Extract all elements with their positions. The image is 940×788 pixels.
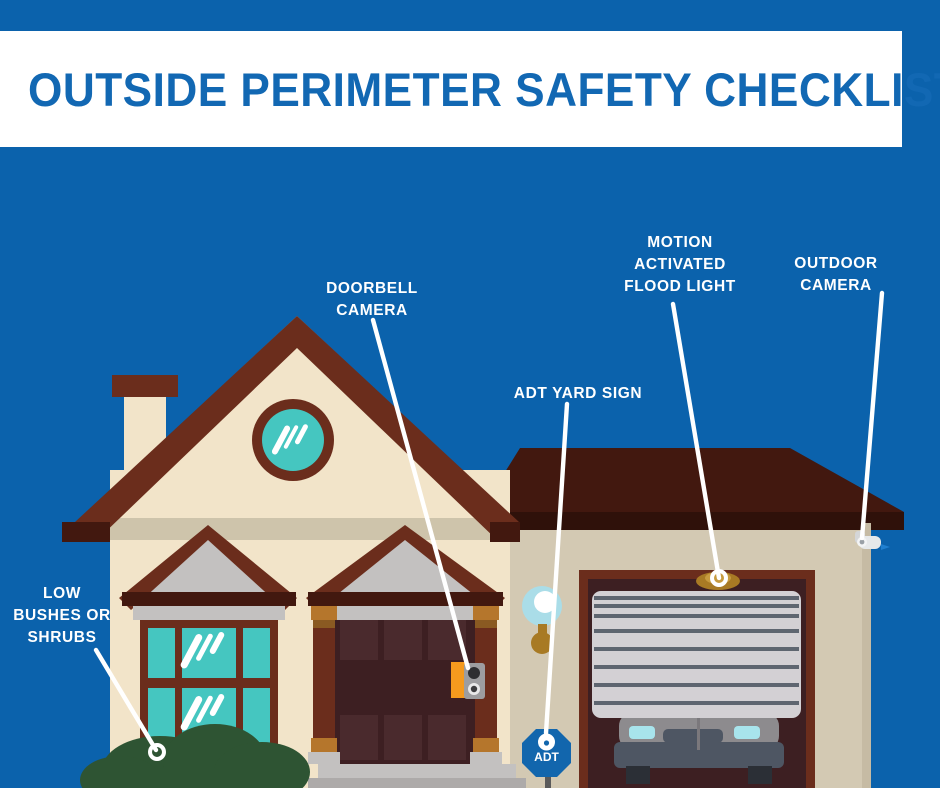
column-neck-right	[475, 620, 497, 628]
doorbell-camera-button	[471, 686, 477, 692]
bay-window-pane	[148, 688, 175, 744]
door-panel	[384, 715, 422, 760]
bay-window-pane	[148, 628, 175, 678]
garage-wall-shadow	[862, 523, 871, 788]
callout-label-doorbell-camera: DOORBELL CAMERA	[272, 278, 472, 322]
chimney-cap	[112, 375, 178, 397]
garage-door-slat	[594, 596, 799, 600]
page-title: OUTSIDE PERIMETER SAFETY CHECKLIST	[28, 66, 940, 113]
garage-door-slat	[594, 647, 799, 651]
garage-door-slat	[594, 683, 799, 687]
callout-label-adt-yard-sign: ADT YARD SIGN	[466, 383, 690, 405]
eave-right	[490, 522, 520, 542]
garage-door-slat	[594, 701, 799, 705]
column-plinth-left	[308, 752, 340, 764]
column-neck-left	[313, 620, 335, 628]
yard-sign-emblem-inner	[544, 740, 549, 745]
column-shaft-left	[313, 628, 335, 738]
door-panel	[428, 715, 466, 760]
porch-header	[308, 592, 503, 606]
door-panel	[340, 620, 378, 660]
car-headlight-right	[734, 726, 760, 739]
infographic-canvas: ADT OUTSIDE PERIMETER SAFETY CHECKLIST L…	[0, 0, 940, 788]
round-attic-window	[252, 399, 334, 481]
callout-label-low-bushes-or-shrubs: LOW BUSHES OR SHRUBS	[0, 583, 124, 649]
car-wheel-right	[748, 766, 772, 784]
eave-left	[62, 522, 110, 542]
porch-step-upper	[318, 764, 516, 778]
callout-label-outdoor-camera: OUTDOOR CAMERA	[744, 253, 928, 297]
porch-step-lower	[308, 778, 526, 788]
garage-door-slat	[594, 629, 799, 633]
round-window-glass	[262, 409, 324, 471]
bay-window-pane	[243, 628, 270, 678]
title-banner: OUTSIDE PERIMETER SAFETY CHECKLIST	[0, 31, 902, 147]
bay-window-header	[122, 592, 296, 606]
column-base-right	[473, 738, 499, 752]
yard-sign-text: ADT	[534, 750, 559, 764]
door-handle-plate	[451, 662, 465, 698]
car-headlight-left	[629, 726, 655, 739]
bay-window-lintel	[133, 606, 285, 620]
bush-base	[92, 768, 302, 788]
door-panel	[384, 620, 422, 660]
garage-roof-fascia	[470, 512, 904, 530]
garage-door-panel	[592, 591, 801, 718]
garage-door-slat	[594, 665, 799, 669]
door-panel	[340, 715, 378, 760]
car-wheel-left	[626, 766, 650, 784]
column-cap-right	[473, 606, 499, 620]
garage-door-slat	[594, 604, 799, 608]
column-base-left	[311, 738, 337, 752]
car-grille	[663, 729, 723, 743]
garage-door	[592, 591, 801, 718]
column-cap-left	[311, 606, 337, 620]
garage-door-slat	[594, 614, 799, 618]
outdoor-camera-lens	[860, 540, 865, 545]
column-plinth-right	[470, 752, 502, 764]
